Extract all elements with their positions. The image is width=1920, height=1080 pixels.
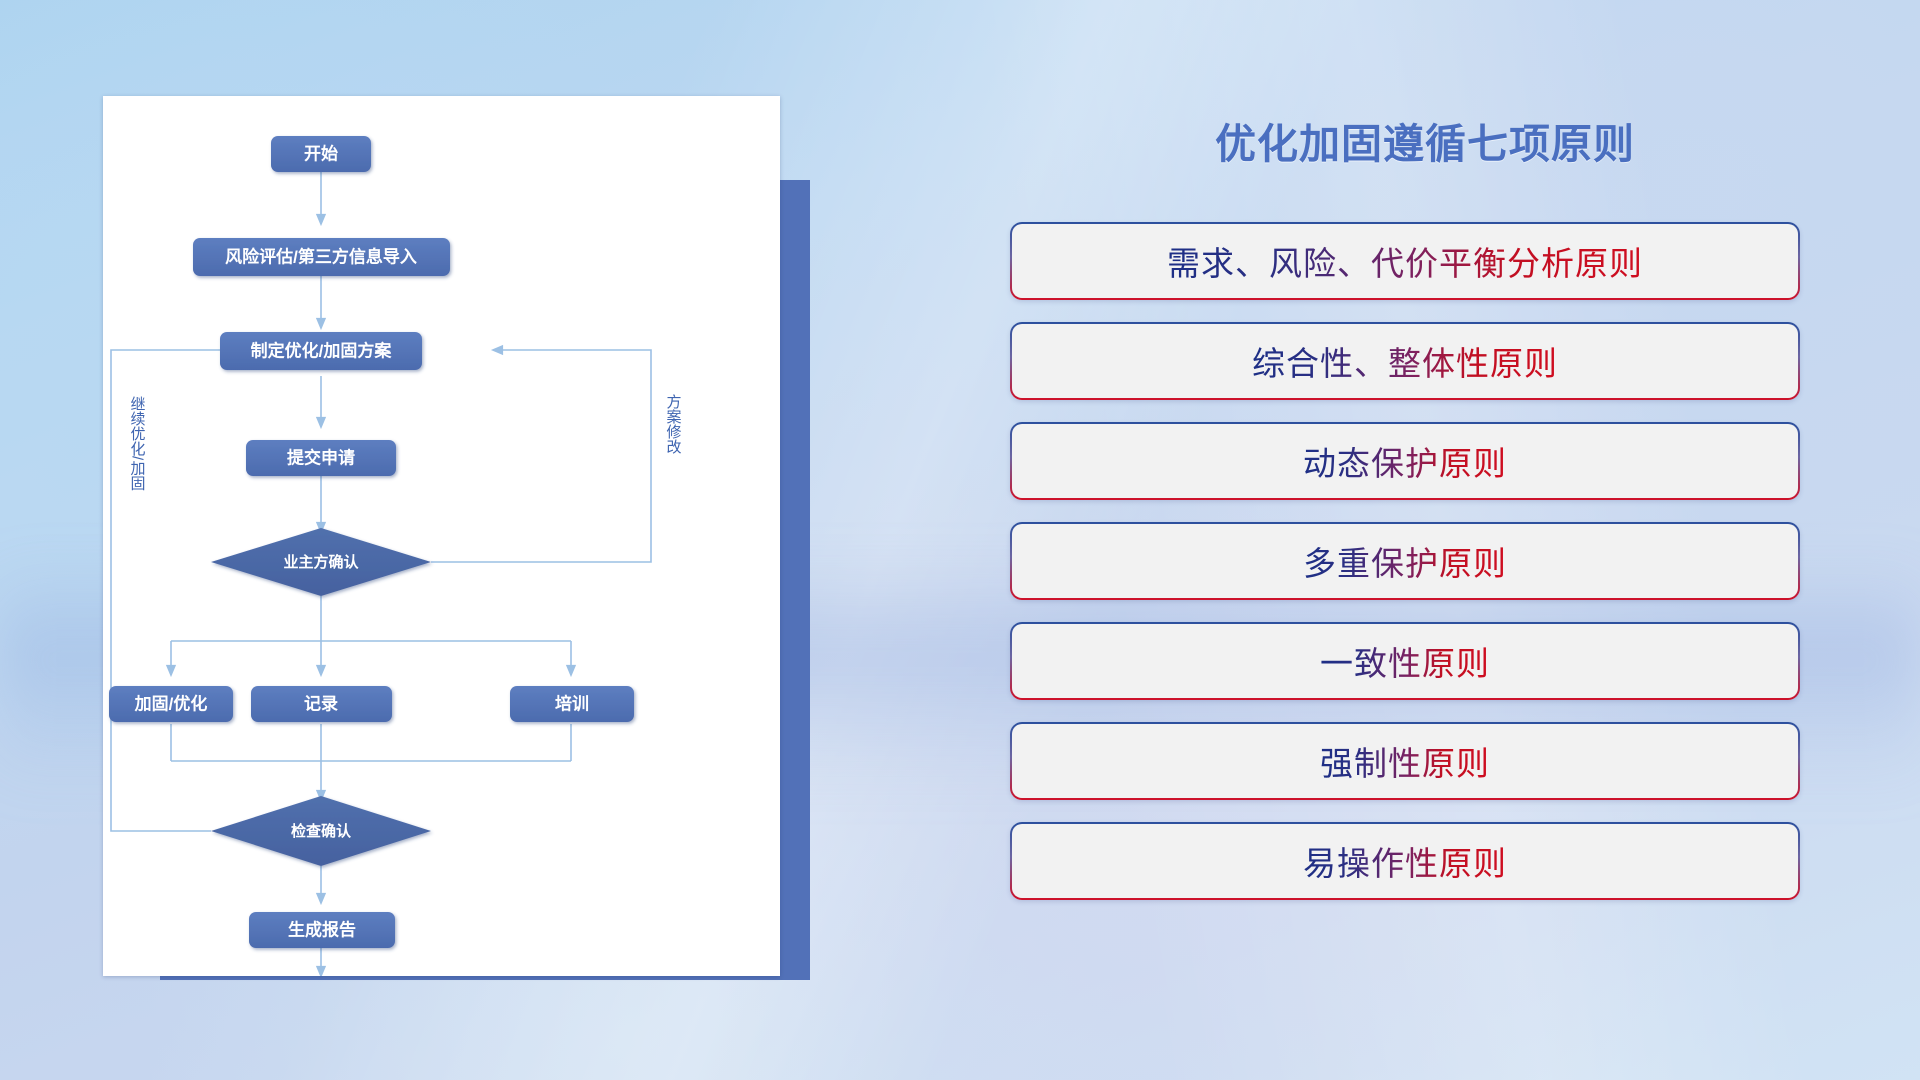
principle-card[interactable]: 一致性原则 [1010,622,1800,700]
flow-node-generate-report-label: 生成报告 [288,919,356,939]
flow-node-check-confirm-label: 检查确认 [291,822,352,840]
principles-panel: 优化加固遵循七项原则 需求、风险、代价平衡分析原则 综合性、整体性原则 动态保护… [1010,90,1840,1030]
flow-node-record[interactable]: 记录 [251,686,392,722]
flow-node-risk-assessment[interactable]: 风险评估/第三方信息导入 [193,238,450,276]
flowchart-card: 开始 风险评估/第三方信息导入 制定优化/加固方案 提交申请 业主方确认 加固/… [103,96,780,976]
flow-node-risk-assessment-label: 风险评估/第三方信息导入 [225,246,417,266]
principle-label: 多重保护原则 [1303,537,1507,585]
flow-node-record-label: 记录 [304,694,338,713]
principle-card-body: 多重保护原则 [1012,524,1798,598]
principle-label: 强制性原则 [1320,737,1490,785]
flow-node-training-label: 培训 [555,693,589,713]
principles-list: 需求、风险、代价平衡分析原则 综合性、整体性原则 动态保护原则 多重保护原则 一… [1010,222,1840,900]
principle-card[interactable]: 强制性原则 [1010,722,1800,800]
principle-label: 综合性、整体性原则 [1252,337,1558,385]
flow-node-owner-confirm[interactable]: 业主方确认 [211,528,431,596]
flow-node-owner-confirm-label: 业主方确认 [283,553,359,571]
flow-edge-label-continue-optimize: 继续优化/加固 [129,396,146,490]
panel-title: 优化加固遵循七项原则 [1010,110,1840,170]
flow-node-make-plan[interactable]: 制定优化/加固方案 [220,332,422,370]
principle-label: 需求、风险、代价平衡分析原则 [1167,237,1643,285]
principle-card-body: 一致性原则 [1012,624,1798,698]
principle-card-body: 易操作性原则 [1012,824,1798,898]
flow-node-generate-report[interactable]: 生成报告 [249,912,395,948]
flow-node-start-label: 开始 [304,143,338,163]
principle-card[interactable]: 需求、风险、代价平衡分析原则 [1010,222,1800,300]
flowchart-diagram: 开始 风险评估/第三方信息导入 制定优化/加固方案 提交申请 业主方确认 加固/… [103,96,780,976]
flow-node-training[interactable]: 培训 [510,686,634,722]
principle-card-body: 动态保护原则 [1012,424,1798,498]
principle-card[interactable]: 易操作性原则 [1010,822,1800,900]
principle-label: 一致性原则 [1320,637,1490,685]
flow-node-start[interactable]: 开始 [271,136,371,172]
flow-node-make-plan-label: 制定优化/加固方案 [251,340,393,360]
flow-node-submit-application[interactable]: 提交申请 [246,440,396,476]
principle-card[interactable]: 多重保护原则 [1010,522,1800,600]
flow-node-submit-application-label: 提交申请 [287,447,355,467]
principle-card[interactable]: 动态保护原则 [1010,422,1800,500]
flow-edge-label-plan-revision: 方案修改 [665,394,682,454]
principle-card[interactable]: 综合性、整体性原则 [1010,322,1800,400]
principle-label: 易操作性原则 [1303,837,1507,885]
flow-node-reinforce-optimize[interactable]: 加固/优化 [109,686,233,722]
principle-card-body: 需求、风险、代价平衡分析原则 [1012,224,1798,298]
principle-label: 动态保护原则 [1303,437,1507,485]
flow-node-reinforce-optimize-label: 加固/优化 [134,693,208,713]
flow-node-check-confirm[interactable]: 检查确认 [211,796,431,866]
principle-card-body: 强制性原则 [1012,724,1798,798]
principle-card-body: 综合性、整体性原则 [1012,324,1798,398]
